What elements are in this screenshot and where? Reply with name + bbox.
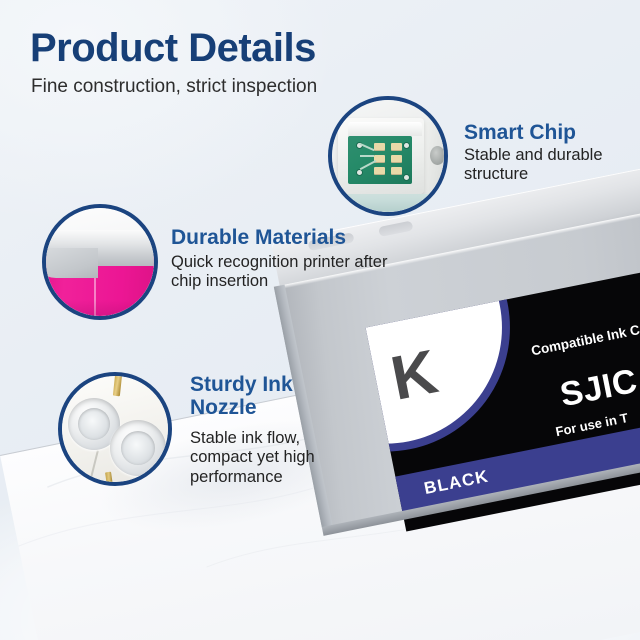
nozzle-opening-right-inner — [121, 431, 155, 465]
feature-body-smart-chip: Stable and durable structure — [464, 146, 636, 185]
cartridge-shadow — [46, 300, 154, 316]
cap-side-fold — [46, 248, 98, 278]
label-model-number: SJIC — [557, 362, 640, 415]
contact-pad — [374, 143, 385, 151]
page-title: Product Details — [30, 28, 316, 68]
nozzle-opening-left-inner — [78, 408, 110, 440]
feature-body-sturdy-ink-nozzle: Stable ink flow, compact yet high perfor… — [190, 429, 340, 487]
page-subtitle: Fine construction, strict inspection — [31, 76, 317, 99]
feature-image-durable-materials — [42, 204, 158, 320]
board-via — [356, 169, 363, 176]
feature-heading-sturdy-ink-nozzle: Sturdy Ink Nozzle — [190, 373, 320, 419]
board-trace — [360, 155, 374, 157]
green-circuit-board — [348, 136, 412, 184]
board-via — [403, 142, 410, 149]
feature-image-smart-chip — [328, 96, 448, 216]
feature-body-durable-materials: Quick recognition printer after chip ins… — [171, 253, 389, 292]
board-via — [403, 174, 410, 181]
housing-top-edge — [348, 122, 422, 136]
contact-pad — [374, 167, 385, 175]
smart-chip-photo — [332, 100, 444, 212]
contact-pad — [391, 155, 402, 163]
ink-nozzle-photo — [62, 376, 168, 482]
chip-scene-foreground — [332, 194, 444, 212]
product-details-infographic: K Compatible Ink C SJIC For use in T BLA… — [0, 0, 640, 640]
contact-pad — [391, 167, 402, 175]
feature-image-sturdy-ink-nozzle — [58, 372, 172, 486]
cartridge-air-hole — [430, 146, 444, 165]
feature-heading-durable-materials: Durable Materials — [171, 226, 346, 249]
magenta-cartridge-photo — [46, 208, 154, 316]
contact-pad — [391, 143, 402, 151]
label-compatible-text: Compatible Ink C — [530, 322, 640, 358]
feature-heading-smart-chip: Smart Chip — [464, 121, 576, 144]
cartridge-top-notch-right — [378, 221, 413, 237]
